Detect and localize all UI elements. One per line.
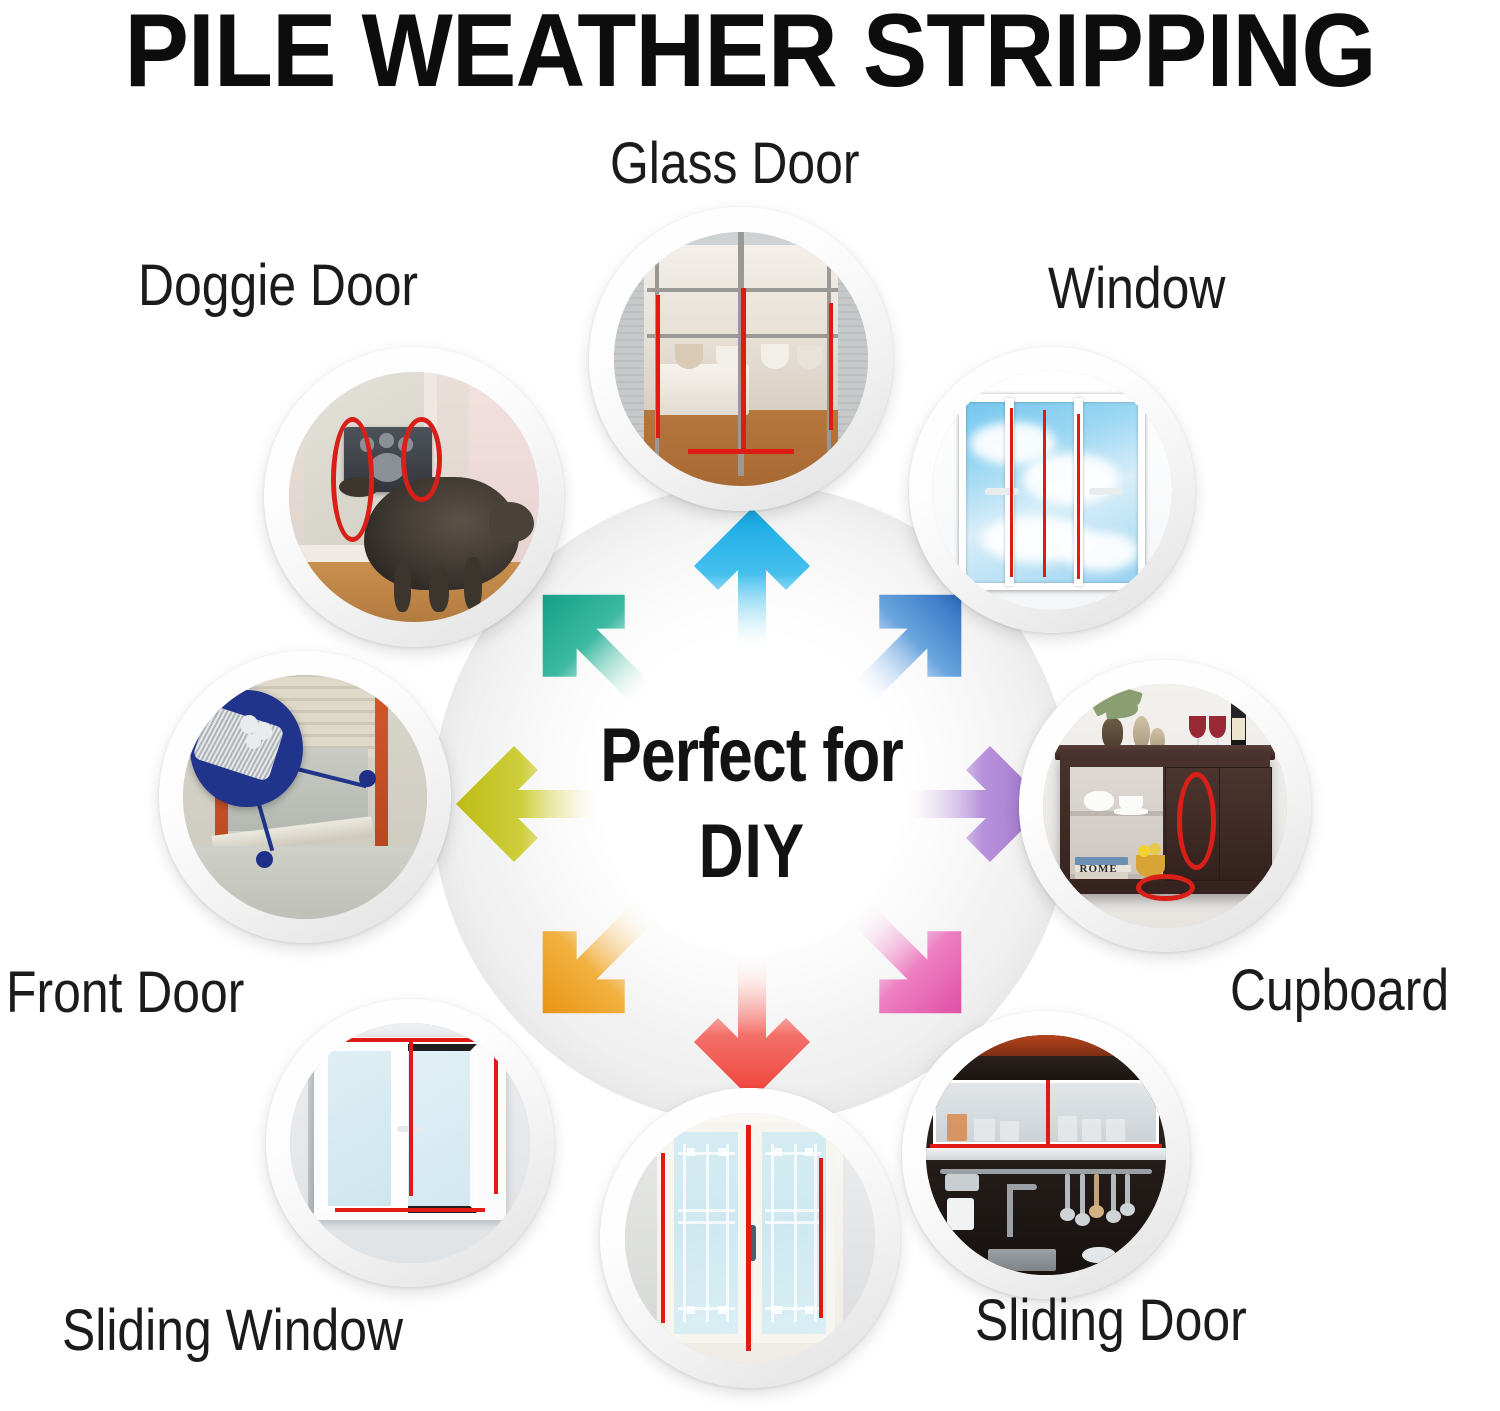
- photo-circle-doggie-door[interactable]: [264, 347, 564, 647]
- annotation-ellipse: [401, 417, 441, 502]
- label-sliding-door: Sliding Door: [975, 1290, 1247, 1352]
- scene-sliding-window: [290, 1023, 531, 1264]
- annotation-line: [819, 1158, 823, 1319]
- label-front-door: Front Door: [6, 962, 244, 1024]
- scene-glass-door: [614, 232, 868, 486]
- annotation-line: [930, 1144, 1161, 1148]
- photo-circle-sliding-door[interactable]: [902, 1011, 1190, 1299]
- annotation-line: [1046, 1080, 1050, 1147]
- circle-photo: [932, 370, 1171, 609]
- annotation-line: [1043, 410, 1046, 577]
- annotation-ellipse: [331, 417, 374, 542]
- circle-photo: [290, 1023, 531, 1264]
- center-caption-line2: DIY: [699, 814, 805, 890]
- annotation-ellipse: [1177, 772, 1216, 870]
- center-caption-line1: Perfect for: [601, 718, 904, 794]
- circle-photo: [183, 675, 427, 919]
- annotation-ellipse: [1136, 874, 1195, 901]
- scene-window: [932, 370, 1171, 609]
- photo-circle-window[interactable]: [909, 347, 1195, 633]
- circle-photo: [289, 372, 540, 623]
- annotation-line: [688, 449, 795, 454]
- infographic-canvas: PILE WEATHER STRIPPING: [0, 0, 1500, 1411]
- photo-circle-patio-door[interactable]: [600, 1088, 900, 1388]
- label-window: Window: [1048, 258, 1225, 320]
- annotation-line: [661, 1153, 665, 1324]
- label-glass-door: Glass Door: [610, 133, 859, 195]
- magnifier-callout: [190, 690, 302, 807]
- scene-cupboard: ROME: [1043, 684, 1287, 928]
- annotation-line: [1077, 414, 1080, 579]
- scene-patio-door: [625, 1113, 876, 1364]
- scene-front-door: [183, 675, 427, 919]
- label-cupboard: Cupboard: [1230, 960, 1449, 1022]
- label-sliding-window: Sliding Window: [62, 1300, 403, 1362]
- photo-circle-cupboard[interactable]: ROME: [1019, 660, 1311, 952]
- annotation-line: [656, 295, 661, 437]
- photo-circle-sliding-window[interactable]: [266, 999, 554, 1287]
- annotation-line: [741, 288, 746, 451]
- book-title-rome: ROME: [1080, 863, 1118, 875]
- circle-photo: [625, 1113, 876, 1364]
- circle-photo: ROME: [1043, 684, 1287, 928]
- scene-doggie-door: [289, 372, 540, 623]
- annotation-line: [335, 1208, 484, 1212]
- photo-circle-glass-door[interactable]: [589, 207, 893, 511]
- scene-sliding-door: [926, 1035, 1167, 1276]
- page-title: PILE WEATHER STRIPPING: [53, 0, 1448, 110]
- annotation-line: [1010, 408, 1013, 577]
- circle-photo: [926, 1035, 1167, 1276]
- circle-photo: [614, 232, 868, 486]
- annotation-line: [829, 303, 834, 430]
- annotation-line: [494, 1044, 498, 1193]
- photo-circle-front-door[interactable]: [159, 651, 451, 943]
- annotation-line: [409, 1042, 413, 1196]
- label-doggie-door: Doggie Door: [138, 255, 418, 317]
- annotation-line: [746, 1125, 750, 1351]
